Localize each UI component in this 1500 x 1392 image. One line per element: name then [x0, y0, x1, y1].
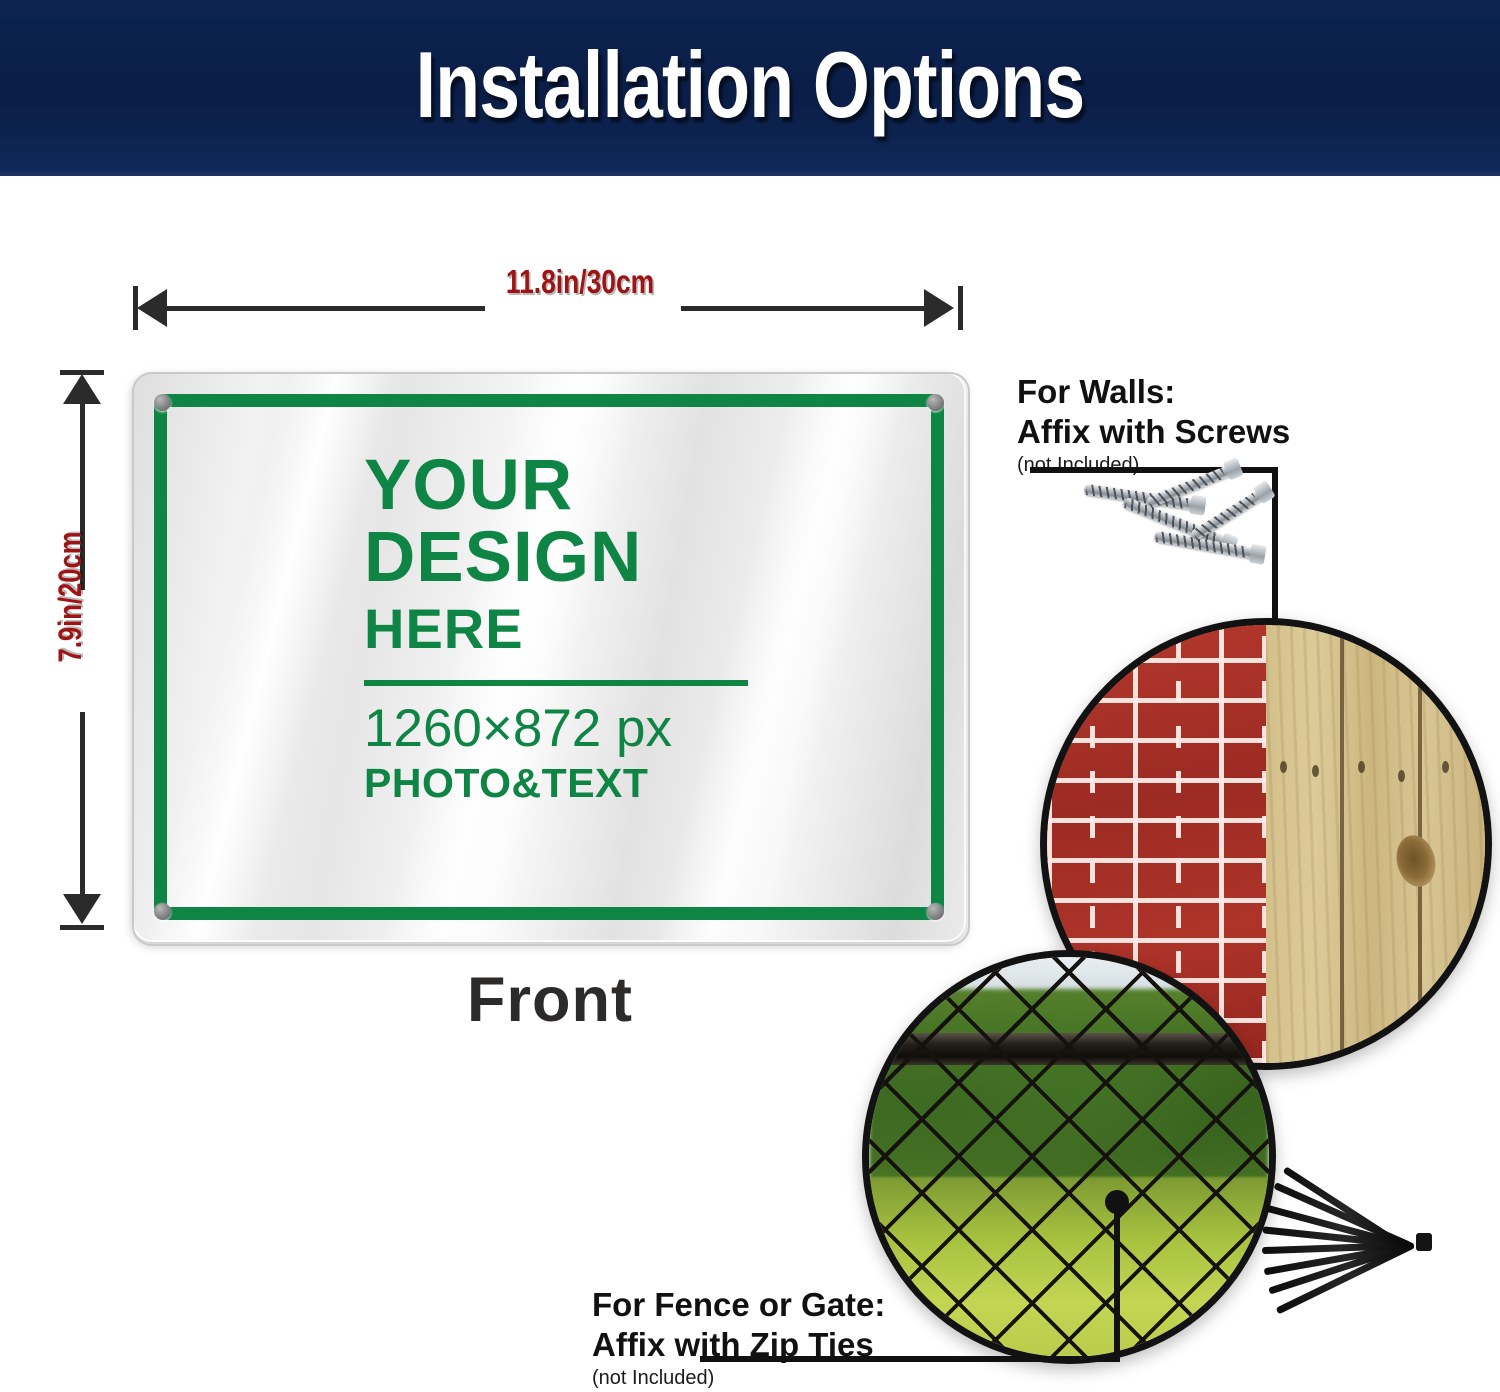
wood-fence-texture — [1266, 625, 1485, 1063]
callout-fence-leader-dot — [1105, 1190, 1129, 1214]
sign-line-here: HERE — [364, 596, 754, 662]
arrow-right-icon — [924, 289, 954, 327]
sign-content-type: PHOTO&TEXT — [364, 758, 754, 808]
wood-screw-hole — [1358, 761, 1365, 773]
callout-fence-title-1: For Fence or Gate: — [592, 1285, 885, 1325]
banner-bottom-edge — [0, 172, 1500, 176]
chain-link-fence-photo — [862, 950, 1276, 1364]
sign-preview: YOUR DESIGN HERE 1260×872 px PHOTO&TEXT — [132, 372, 966, 942]
arrow-up-icon — [63, 374, 101, 404]
mounting-hole-bottom-right — [927, 903, 944, 920]
callout-fence: For Fence or Gate: Affix with Zip Ties (… — [592, 1285, 885, 1392]
callout-fence-note: (not Included) — [592, 1365, 885, 1392]
page-title: Installation Options — [165, 30, 1335, 140]
sign-divider-rule — [364, 680, 748, 686]
wood-screw-hole — [1280, 761, 1287, 773]
mounting-hole-top-right — [927, 394, 944, 411]
zip-tie-head — [1416, 1233, 1432, 1251]
height-tick-bottom — [60, 925, 104, 930]
screws-icon — [1082, 468, 1278, 576]
callout-walls-title-1: For Walls: — [1017, 372, 1290, 412]
chain-link-mesh — [862, 950, 1276, 1364]
height-dimension-label: 7.9in/20cm — [53, 501, 87, 693]
mounting-hole-top-left — [154, 394, 171, 411]
width-dimension-arrow — [133, 286, 963, 330]
sign-line-your: YOUR — [364, 450, 754, 522]
sign-text-block: YOUR DESIGN HERE 1260×872 px PHOTO&TEXT — [364, 450, 754, 808]
zip-ties-icon — [1262, 1183, 1432, 1301]
callout-walls: For Walls: Affix with Screws (not Includ… — [1017, 372, 1290, 479]
callout-walls-title-2: Affix with Screws — [1017, 412, 1290, 452]
arrow-left-icon — [137, 289, 167, 327]
mounting-hole-bottom-left — [154, 903, 171, 920]
wood-screw-hole — [1442, 761, 1449, 773]
width-label-gap — [485, 300, 681, 318]
callout-fence-leader-vertical — [1114, 1198, 1120, 1360]
sign-line-design: DESIGN — [364, 522, 754, 594]
wood-knot — [1392, 831, 1441, 891]
sign-front-caption: Front — [330, 965, 770, 1035]
header-banner: Installation Options — [0, 0, 1500, 176]
wood-screw-hole — [1312, 765, 1319, 777]
width-tick-right — [958, 286, 963, 330]
wood-screw-hole — [1398, 770, 1405, 782]
callout-fence-leader-horizontal — [700, 1356, 1120, 1362]
arrow-down-icon — [63, 894, 101, 924]
sign-resolution: 1260×872 px — [364, 700, 754, 758]
